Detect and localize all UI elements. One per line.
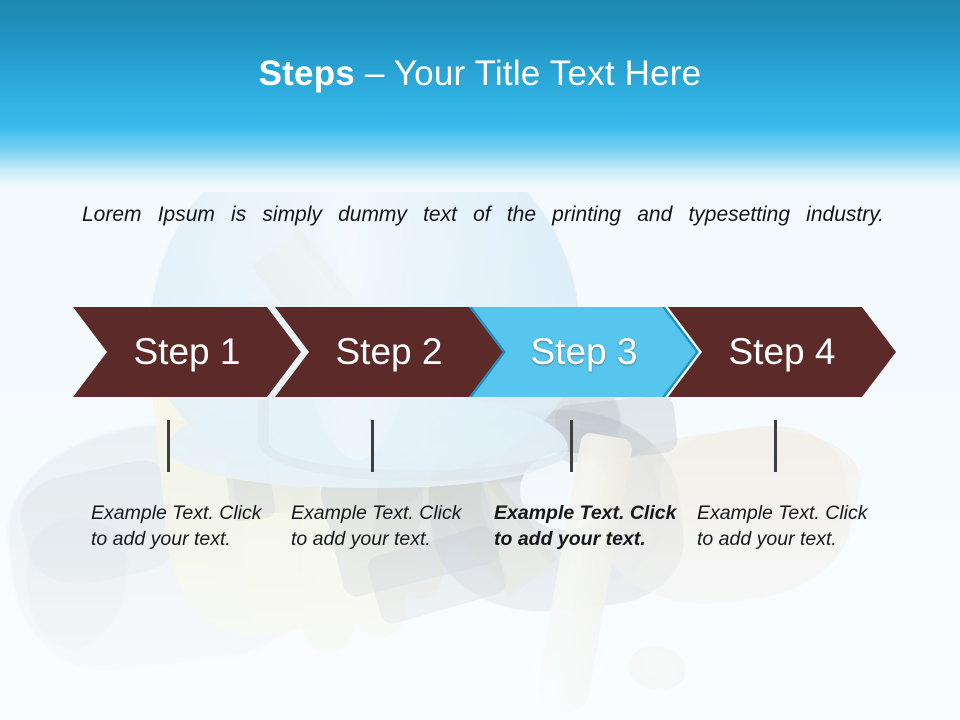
page-title-rest: – Your Title Text Here <box>355 54 701 93</box>
step-chevron-2[interactable]: Step 2 <box>275 307 503 397</box>
step-caption-3[interactable]: Example Text. Click to add your text. <box>494 500 684 552</box>
connector-tick-3 <box>570 420 573 472</box>
step-chevron-label-1: Step 1 <box>134 332 241 372</box>
step-chevron-label-3: Step 3 <box>531 332 638 372</box>
step-chevron-4[interactable]: Step 4 <box>668 307 896 397</box>
step-chevron-label-4: Step 4 <box>729 332 836 372</box>
intro-paragraph: Lorem Ipsum is simply dummy text of the … <box>82 198 884 266</box>
step-caption-1[interactable]: Example Text. Click to add your text. <box>91 500 271 552</box>
connector-tick-4 <box>774 420 777 472</box>
page-title: Steps – Your Title Text Here <box>0 52 960 96</box>
title-banner <box>0 0 960 192</box>
step-chevron-label-2: Step 2 <box>336 332 443 372</box>
connector-tick-2 <box>371 420 374 472</box>
step-caption-2[interactable]: Example Text. Click to add your text. <box>291 500 471 552</box>
page-title-strong: Steps <box>259 54 355 93</box>
slide-canvas: Steps – Your Title Text Here Lorem Ipsum… <box>0 0 960 720</box>
step-chevron-1[interactable]: Step 1 <box>73 307 301 397</box>
connector-tick-1 <box>167 420 170 472</box>
steps-chevron-row: Step 1 Step 2 Step 3 Step 4 <box>0 307 960 399</box>
step-caption-4[interactable]: Example Text. Click to add your text. <box>697 500 877 552</box>
